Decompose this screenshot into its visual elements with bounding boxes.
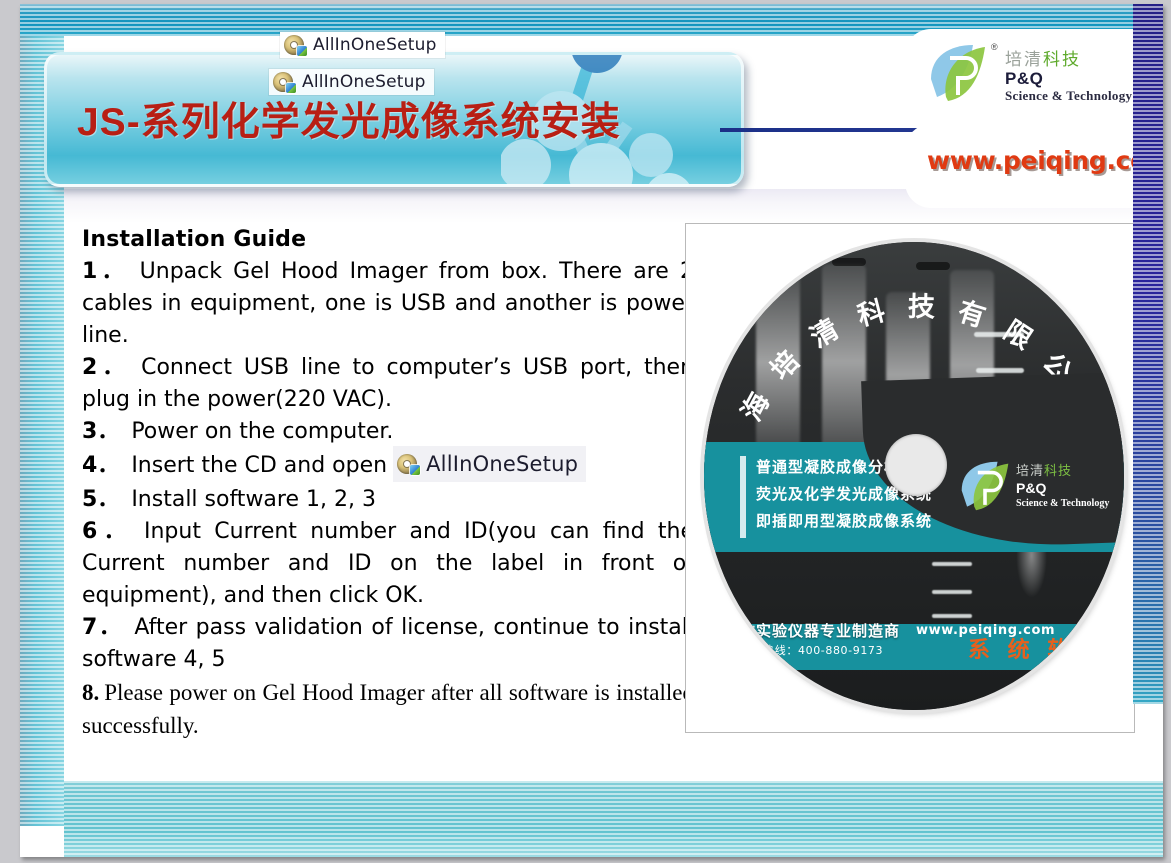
cd-brand-cn1: 培清 [1016,464,1044,479]
step-text: Power on the computer. [131,419,393,444]
cd-center-hole [885,434,947,496]
website-panel: www.peiqing.com [905,124,1163,208]
step-number: 3． [82,419,119,444]
cd-software-label: 系 统 软 件 [968,632,1114,664]
guide-step-1: 1．Unpack Gel Hood Imager from box. There… [82,256,694,352]
slide-title: JS-系列化学发光成像系统安装 [77,91,621,147]
step-number: 4． [82,453,119,478]
step-text: Insert the CD and open [131,453,387,478]
setup-disc-icon [397,453,419,475]
website-url[interactable]: www.peiqing.com [927,146,1163,175]
setup-disc-icon [284,34,306,56]
cd-brand-cn2: 科技 [1044,464,1072,479]
content-card: Installation Guide 1．Unpack Gel Hood Ima… [64,189,1163,781]
guide-step-6: 6．Input Current number and ID(you can fi… [82,516,694,612]
cd-photo-frame: 上 海 培 清 科 技 有 限 公 司 普通型凝胶成像分析系统 荧光及化学发光成… [685,223,1135,733]
brand-cn-name: 培清科技 [1005,45,1081,70]
guide-step-3: 3．Power on the computer. [82,416,694,448]
step-number: 8. [82,680,99,705]
brand-cn-part2: 科技 [1043,50,1081,70]
cd-brand-name: P&Q [1016,480,1046,496]
step-text: Input Current number and ID(you can find… [82,519,694,608]
step-text: Please power on Gel Hood Imager after al… [82,680,694,738]
cd-feature-item: 即插即用型凝胶成像系统 [756,508,932,535]
slide-root: Installation Guide 1．Unpack Gel Hood Ima… [0,0,1171,863]
chip-label: AllInOneSetup [426,448,578,480]
guide-step-7: 7．After pass validation of license, cont… [82,612,694,676]
cd-accent-bar [740,456,746,538]
title-cn: 系列化学发光成像系统安装 [141,101,621,144]
brand-name: P&Q [1005,69,1043,89]
page-frame: Installation Guide 1．Unpack Gel Hood Ima… [20,4,1163,857]
step-number: 1． [82,259,128,284]
registered-mark: ® [991,42,998,52]
page-title: Installation Guide [82,227,694,252]
cd-brand-logo: 培清科技 P&Q Science & Technology [958,454,1110,532]
setup-disc-icon [273,71,295,93]
pq-leaf-icon [927,43,989,103]
allinonesetup-chip-inline[interactable]: AllInOneSetup [393,446,586,482]
guide-step-5: 5．Install software 1, 2, 3 [82,484,694,516]
allinonesetup-chip-second[interactable]: AllInOneSetup [269,69,434,95]
installation-guide: Installation Guide 1．Unpack Gel Hood Ima… [82,227,694,742]
step-text: Connect USB line to computer’s USB port,… [82,355,694,412]
step-text: Install software 1, 2, 3 [131,487,376,512]
cd-brand-sub: Science & Technology [1016,498,1109,509]
brand-subtitle: Science & Technology [1005,88,1132,104]
bottom-decorative-band [64,771,1163,857]
pq-leaf-icon [958,460,1012,512]
title-latin: JS- [77,101,141,144]
step-number: 2． [82,355,129,380]
guide-step-4: 4．Insert the CD and openAllInOneSetup [82,448,694,484]
chip-label: AllInOneSetup [302,72,426,92]
step-number: 6． [82,519,132,544]
allinonesetup-chip-top[interactable]: AllInOneSetup [280,32,445,58]
brand-logo-panel: ® 培清科技 P&Q Science & Technology [905,29,1163,115]
cd-disc-image: 上 海 培 清 科 技 有 限 公 司 普通型凝胶成像分析系统 荧光及化学发光成… [704,242,1124,710]
cd-brand-cn: 培清科技 [1016,460,1072,479]
step-text: Unpack Gel Hood Imager from box. There a… [82,259,694,348]
step-number: 7． [82,615,122,640]
cd-hotline-text: 服务热线：400-880-9173 [740,642,883,658]
step-text: After pass validation of license, contin… [82,615,694,672]
chip-label: AllInOneSetup [313,35,437,55]
guide-step-2: 2．Connect USB line to computer’s USB por… [82,352,694,416]
step-number: 5． [82,487,119,512]
brand-cn-part1: 培清 [1005,50,1043,70]
right-decorative-strip [1133,4,1163,704]
cd-maker-text: 生物实验仪器专业制造商 [724,620,900,641]
guide-step-8: 8.Please power on Gel Hood Imager after … [82,676,694,742]
